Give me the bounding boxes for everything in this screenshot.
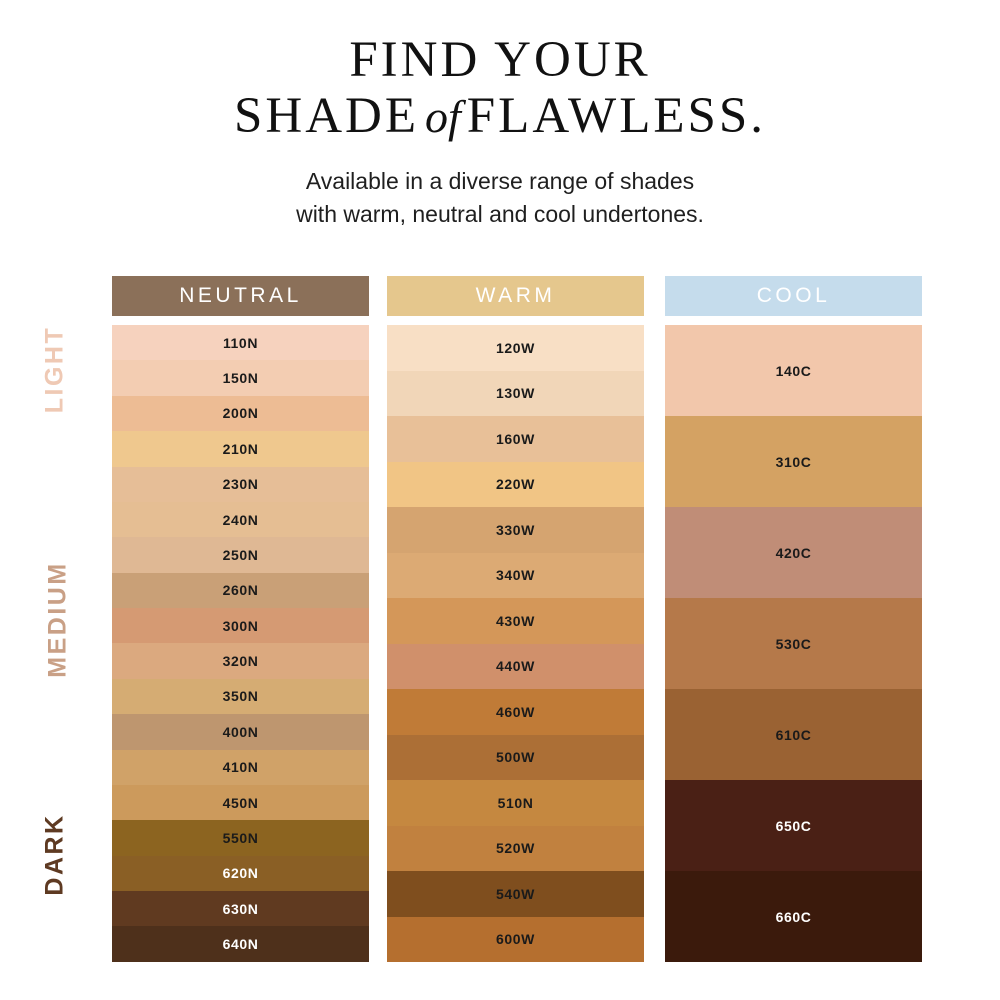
shade-label: 520W — [496, 840, 535, 856]
shade-swatch[interactable]: 440W — [387, 644, 644, 690]
page-title: FIND YOUR SHADEofFLAWLESS. — [0, 34, 1000, 142]
title-shade: SHADE — [234, 88, 419, 144]
title-line-2: SHADEofFLAWLESS. — [0, 90, 1000, 142]
swatch-stack: 140C310C420C530C610C650C660C — [665, 325, 922, 962]
shade-label: 330W — [496, 522, 535, 538]
shade-swatch[interactable]: 230N — [112, 467, 369, 502]
swatch-stack: 110N150N200N210N230N240N250N260N300N320N… — [112, 325, 369, 962]
shade-label: 220W — [496, 476, 535, 492]
shade-swatch[interactable]: 510N — [387, 780, 644, 826]
column-header-neutral: NEUTRAL — [112, 276, 369, 316]
shade-swatch[interactable]: 650C — [665, 780, 922, 871]
shade-swatch[interactable]: 410N — [112, 750, 369, 785]
shade-label: 640N — [223, 936, 259, 952]
column-header-cool: COOL — [665, 276, 922, 316]
shade-swatch[interactable]: 610C — [665, 689, 922, 780]
shade-label: 460W — [496, 704, 535, 720]
depth-label-dark: DARK — [0, 840, 110, 869]
shade-column-warm: WARM120W130W160W220W330W340W430W440W460W… — [387, 276, 644, 962]
shade-swatch[interactable]: 200N — [112, 396, 369, 431]
shade-label: 230N — [223, 476, 259, 492]
shade-label: 450N — [223, 795, 259, 811]
shade-swatch[interactable]: 340W — [387, 553, 644, 599]
shade-label: 400N — [223, 724, 259, 740]
title-line-1: FIND YOUR — [0, 34, 1000, 86]
shade-label: 240N — [223, 512, 259, 528]
shade-label: 250N — [223, 547, 259, 563]
shade-label: 510N — [498, 795, 534, 811]
shade-swatch[interactable]: 150N — [112, 360, 369, 395]
title-of: of — [419, 91, 467, 142]
shade-label: 320N — [223, 653, 259, 669]
shade-swatch[interactable]: 310C — [665, 416, 922, 507]
shade-label: 350N — [223, 688, 259, 704]
shade-swatch[interactable]: 600W — [387, 917, 644, 963]
shade-label: 260N — [223, 582, 259, 598]
shade-label: 310C — [776, 454, 812, 470]
shade-label: 440W — [496, 658, 535, 674]
shade-label: 530C — [776, 636, 812, 652]
shade-swatch[interactable]: 460W — [387, 689, 644, 735]
shade-label: 430W — [496, 613, 535, 629]
shade-swatch[interactable]: 350N — [112, 679, 369, 714]
depth-label-medium: MEDIUM — [0, 605, 110, 634]
shade-label: 550N — [223, 830, 259, 846]
shade-swatch[interactable]: 520W — [387, 826, 644, 872]
shade-swatch[interactable]: 330W — [387, 507, 644, 553]
shade-label: 140C — [776, 363, 812, 379]
shade-label: 540W — [496, 886, 535, 902]
shade-label: 210N — [223, 441, 259, 457]
depth-label-text: MEDIUM — [44, 561, 73, 677]
shade-swatch[interactable]: 250N — [112, 537, 369, 572]
page-subtitle: Available in a diverse range of shades w… — [0, 165, 1000, 230]
shade-finder-page: FIND YOUR SHADEofFLAWLESS. Available in … — [0, 0, 1000, 1000]
shade-label: 120W — [496, 340, 535, 356]
shade-swatch[interactable]: 300N — [112, 608, 369, 643]
shade-swatch[interactable]: 260N — [112, 573, 369, 608]
depth-label-text: LIGHT — [41, 326, 70, 414]
shade-swatch[interactable]: 450N — [112, 785, 369, 820]
shade-swatch[interactable]: 160W — [387, 416, 644, 462]
shade-swatch[interactable]: 620N — [112, 856, 369, 891]
shade-label: 500W — [496, 749, 535, 765]
shade-label: 630N — [223, 901, 259, 917]
subtitle-line-1: Available in a diverse range of shades — [0, 165, 1000, 198]
shade-swatch[interactable]: 210N — [112, 431, 369, 466]
shade-label: 600W — [496, 931, 535, 947]
shade-label: 650C — [776, 818, 812, 834]
shade-label: 410N — [223, 759, 259, 775]
shade-swatch[interactable]: 130W — [387, 371, 644, 417]
shade-label: 620N — [223, 865, 259, 881]
shade-label: 150N — [223, 370, 259, 386]
shade-swatch[interactable]: 110N — [112, 325, 369, 360]
shade-swatch[interactable]: 630N — [112, 891, 369, 926]
depth-label-light: LIGHT — [0, 355, 110, 384]
shade-column-neutral: NEUTRAL110N150N200N210N230N240N250N260N3… — [112, 276, 369, 962]
shade-label: 160W — [496, 431, 535, 447]
shade-swatch[interactable]: 220W — [387, 462, 644, 508]
shade-swatch[interactable]: 240N — [112, 502, 369, 537]
shade-label: 340W — [496, 567, 535, 583]
shade-swatch[interactable]: 320N — [112, 643, 369, 678]
shade-swatch[interactable]: 140C — [665, 325, 922, 416]
shade-label: 610C — [776, 727, 812, 743]
shade-label: 110N — [223, 335, 258, 351]
title-flawless: FLAWLESS. — [467, 88, 766, 144]
shade-swatch[interactable]: 530C — [665, 598, 922, 689]
shade-label: 420C — [776, 545, 812, 561]
shade-swatch[interactable]: 660C — [665, 871, 922, 962]
shade-swatch[interactable]: 420C — [665, 507, 922, 598]
shade-swatch[interactable]: 540W — [387, 871, 644, 917]
subtitle-line-2: with warm, neutral and cool undertones. — [0, 198, 1000, 231]
shade-chart: NEUTRAL110N150N200N210N230N240N250N260N3… — [112, 276, 924, 962]
swatch-stack: 120W130W160W220W330W340W430W440W460W500W… — [387, 325, 644, 962]
shade-swatch[interactable]: 550N — [112, 820, 369, 855]
shade-swatch[interactable]: 640N — [112, 926, 369, 961]
depth-label-text: DARK — [41, 813, 70, 895]
column-header-warm: WARM — [387, 276, 644, 316]
shade-swatch[interactable]: 120W — [387, 325, 644, 371]
shade-swatch[interactable]: 500W — [387, 735, 644, 781]
shade-swatch[interactable]: 400N — [112, 714, 369, 749]
shade-label: 200N — [223, 405, 259, 421]
shade-swatch[interactable]: 430W — [387, 598, 644, 644]
shade-label: 300N — [223, 618, 259, 634]
shade-label: 660C — [776, 909, 812, 925]
shade-label: 130W — [496, 385, 535, 401]
shade-column-cool: COOL140C310C420C530C610C650C660C — [665, 276, 922, 962]
